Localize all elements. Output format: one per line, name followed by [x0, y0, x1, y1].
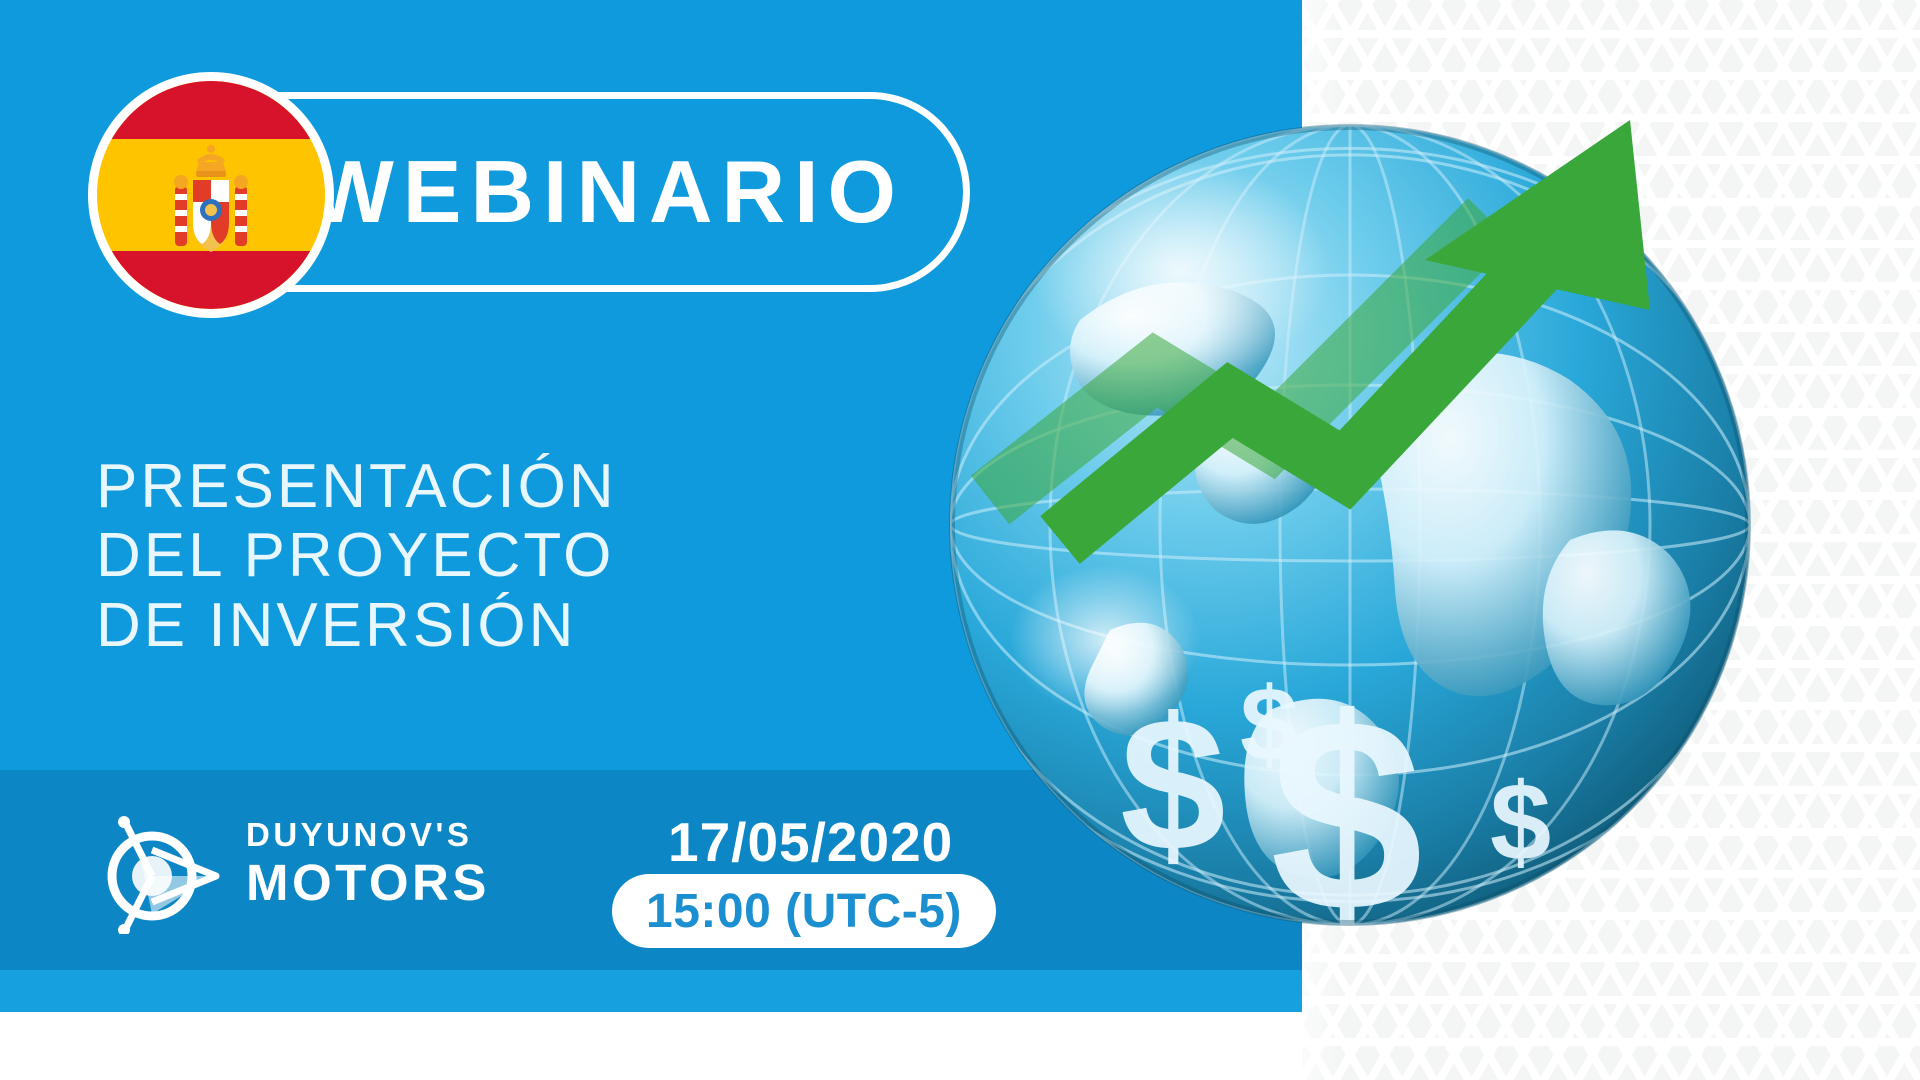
- headline-line-3: DE INVERSIÓN: [96, 591, 617, 660]
- webinar-promo-banner: $ $ $ $ WEBINARIO: [0, 0, 1920, 1080]
- headline-line-1: PRESENTACIÓN: [96, 452, 617, 521]
- brand-wordmark: DUYUNOV'S MOTORS: [246, 818, 490, 908]
- event-date: 17/05/2020: [668, 810, 953, 874]
- spain-flag-icon: [97, 81, 325, 309]
- dollar-sign-right: $: [1490, 761, 1551, 884]
- globe-highlight-top: [1030, 160, 1330, 380]
- white-bottom-margin: [0, 1012, 1302, 1080]
- duyunov-motors-logo-icon: [96, 806, 224, 934]
- spain-flag-badge: [88, 72, 334, 318]
- event-time-pill: 15:00 (UTC-5): [612, 874, 996, 948]
- brand-name-line1: DUYUNOV'S: [246, 818, 490, 851]
- headline-line-2: DEL PROYECTO: [96, 521, 617, 590]
- brand-name-line2: MOTORS: [246, 857, 490, 908]
- event-time: 15:00 (UTC-5): [646, 884, 962, 939]
- globe-illustration: $ $ $ $: [930, 70, 1830, 1000]
- webinar-label: WEBINARIO: [311, 148, 905, 236]
- spain-coat-of-arms-icon: [163, 142, 259, 258]
- globe-highlight-left: [1010, 565, 1200, 715]
- page-title: PRESENTACIÓN DEL PROYECTO DE INVERSIÓN: [96, 452, 617, 660]
